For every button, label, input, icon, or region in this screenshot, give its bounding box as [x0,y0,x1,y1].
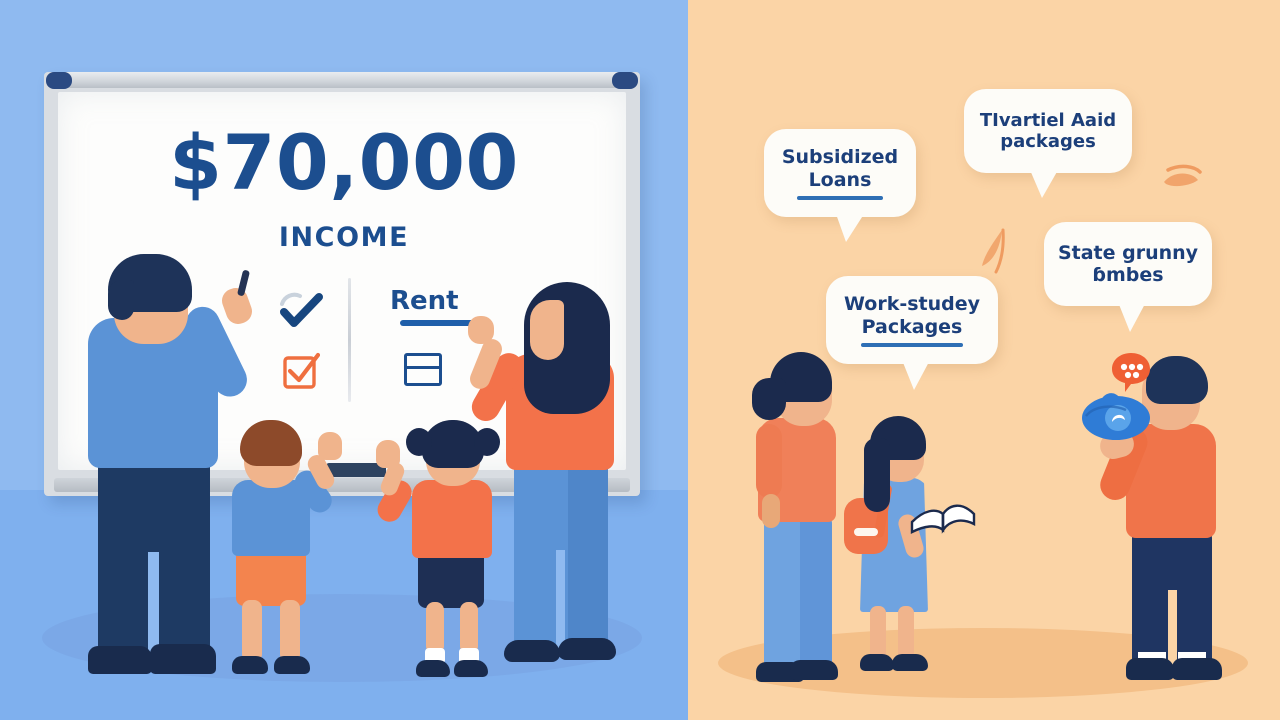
bubble-state-grants[interactable]: State grunny ɓmbes [1044,222,1212,306]
girl-shoe-left [416,660,450,677]
bubble-tail-financial-aid [1028,170,1062,200]
student-girl-leg-left [870,606,886,660]
girl-pigtail-left [406,428,432,456]
bubble-line-1: State grunny [1046,242,1210,264]
income-label: INCOME [0,222,688,253]
woman-leg-gap [556,550,565,650]
adult-man-with-device [1088,352,1248,682]
standing-woman-jeans-shade [800,512,832,670]
girl-shirt [412,480,492,558]
boy-shoe-right [274,656,310,674]
right-panel: Subsidized Loans TIvartiel Aaid packages… [688,0,1280,720]
bubble-line-2: Loans [797,169,884,191]
bubble-line-2: packages [988,131,1108,152]
man-shoe-right [150,644,216,674]
standing-woman-hand [762,494,780,528]
left-panel: $70,000 INCOME Rent [0,0,688,720]
woman-jeans-shade [568,454,608,650]
bubble-line-2: Packages [850,316,975,338]
bubble-line-1: Work-studey [832,293,992,315]
leaf-squiggle-decoration [976,224,1020,282]
adult-woman-pointing [494,282,634,682]
check-blue-icon [278,292,324,332]
bubble-line-1: TIvartiel Aaid [968,110,1128,131]
girl-leg-left [426,602,444,654]
student-girl-shoe-right [892,654,928,671]
bubble-underline [797,196,883,200]
woman-face [530,300,564,360]
split-row-icon [404,353,442,386]
man-shoe-left [88,646,152,674]
standing-woman-sleeve [756,424,782,498]
standing-woman-ponytail [752,378,786,420]
device-man-leg-gap [1168,590,1177,668]
bubble-line-2: ɓmbes [1080,264,1175,286]
man-hair-side [108,280,134,320]
bubble-tail-state-grants [1116,302,1150,334]
whiteboard-cap-right [612,72,638,89]
bubble-financial-aid-packages[interactable]: TIvartiel Aaid packages [964,89,1132,173]
girl-shoe-right [454,660,488,677]
boy-leg-left [242,600,262,662]
bubble-subsidized-loans[interactable]: Subsidized Loans [764,129,916,217]
check-orange-icon [282,352,320,390]
girl-leg-right [460,602,478,654]
student-girl-with-book [840,410,980,682]
rent-label: Rent [390,286,459,316]
woman-shoe-left [504,640,560,662]
boy-leg-right [280,600,300,662]
backpack-pocket [854,528,878,536]
student-girl-hair-long [864,438,890,512]
notification-badge-icon [1108,350,1154,396]
illustration-canvas: $70,000 INCOME Rent [0,0,1280,720]
young-boy [218,418,348,686]
device-man-shoe-right [1172,658,1222,680]
student-girl-leg-right [898,606,914,660]
bubble-underline [861,343,963,347]
girl-hand [376,440,400,468]
standing-woman-shoe-right [790,660,838,680]
man-marker [237,270,250,297]
boy-shoe-left [232,656,268,674]
bubble-line-1: Subsidized [770,146,910,168]
boy-hair [240,420,302,466]
open-book-icon [910,488,978,534]
bubble-tail-subsidized-loans [834,214,868,244]
woman-hand [468,316,494,344]
whiteboard-cap-left [46,72,72,89]
bubble-work-study-packages[interactable]: Work-studey Packages [826,276,998,364]
income-amount-headline: $70,000 [0,118,688,207]
whiteboard-top-rail [54,72,630,88]
woman-shoe-right [558,638,616,660]
swoosh-squiggle-decoration [1158,158,1208,202]
device-man-shoe-left [1126,658,1174,680]
board-vertical-divider [348,278,351,402]
student-girl-shoe-left [860,654,894,671]
bubble-tail-work-study [900,360,934,392]
boy-hand [318,432,342,460]
